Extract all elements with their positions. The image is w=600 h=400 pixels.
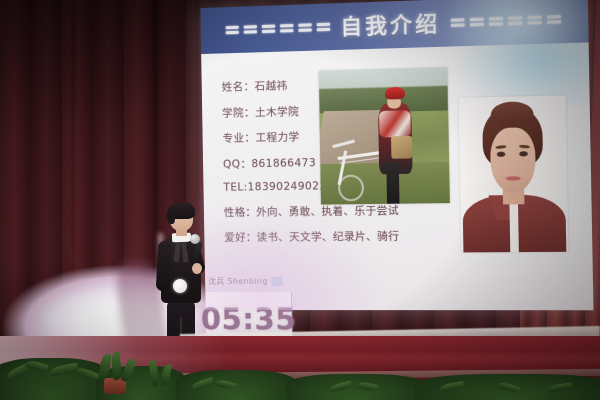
watermark-text: 沈兵 Shenbing xyxy=(208,276,268,287)
decoration-left xyxy=(226,22,331,36)
cycling-photo xyxy=(319,67,450,204)
equals-icon xyxy=(226,25,239,35)
watermark: 沈兵 Shenbing xyxy=(208,276,319,287)
portrait-face xyxy=(490,127,536,193)
speaker-arm xyxy=(156,241,172,292)
cyclist-bag xyxy=(391,136,412,159)
equals-icon xyxy=(451,17,465,28)
speaker-hand xyxy=(192,263,202,274)
speaker-badge xyxy=(173,279,187,293)
equals-icon xyxy=(508,15,522,26)
speaker-hair-side xyxy=(167,209,175,224)
cyclist-jersey xyxy=(379,110,410,138)
equals-icon xyxy=(244,24,257,34)
equals-icon xyxy=(298,22,311,33)
slide-body: 姓名：石越祎 学院：土木学院 专业：工程力学 QQ：861866473 TEL:… xyxy=(201,42,593,310)
equals-icon xyxy=(470,17,484,28)
slide-title: 自我介绍 xyxy=(336,8,445,42)
equals-icon xyxy=(317,22,330,33)
slide: 自我介绍 姓名：石越祎 学院：土木学院 专业：工程力学 QQ：861866473 xyxy=(200,0,593,310)
projection-screen: 自我介绍 姓名：石越祎 学院：土木学院 专业：工程力学 QQ：861866473 xyxy=(200,0,593,310)
microphone-head-icon xyxy=(190,234,200,244)
cyclist-leg xyxy=(387,163,399,204)
equals-icon xyxy=(547,14,561,25)
photo-scene: 自我介绍 姓名：石越祎 学院：土木学院 专业：工程力学 QQ：861866473 xyxy=(0,0,600,400)
portrait-placket xyxy=(509,199,519,252)
equals-icon xyxy=(262,24,275,35)
info-hobbies: 爱好：读书、天文学、纪录片、骑行 xyxy=(224,228,445,245)
portrait-photo xyxy=(459,95,569,252)
equals-icon xyxy=(527,15,541,26)
plant-cluster xyxy=(286,374,426,400)
cyclist-helmet xyxy=(385,87,405,100)
watermark-chip-icon xyxy=(272,277,283,286)
stage-plants xyxy=(0,344,600,400)
equals-icon xyxy=(280,23,293,34)
equals-icon xyxy=(489,16,503,27)
